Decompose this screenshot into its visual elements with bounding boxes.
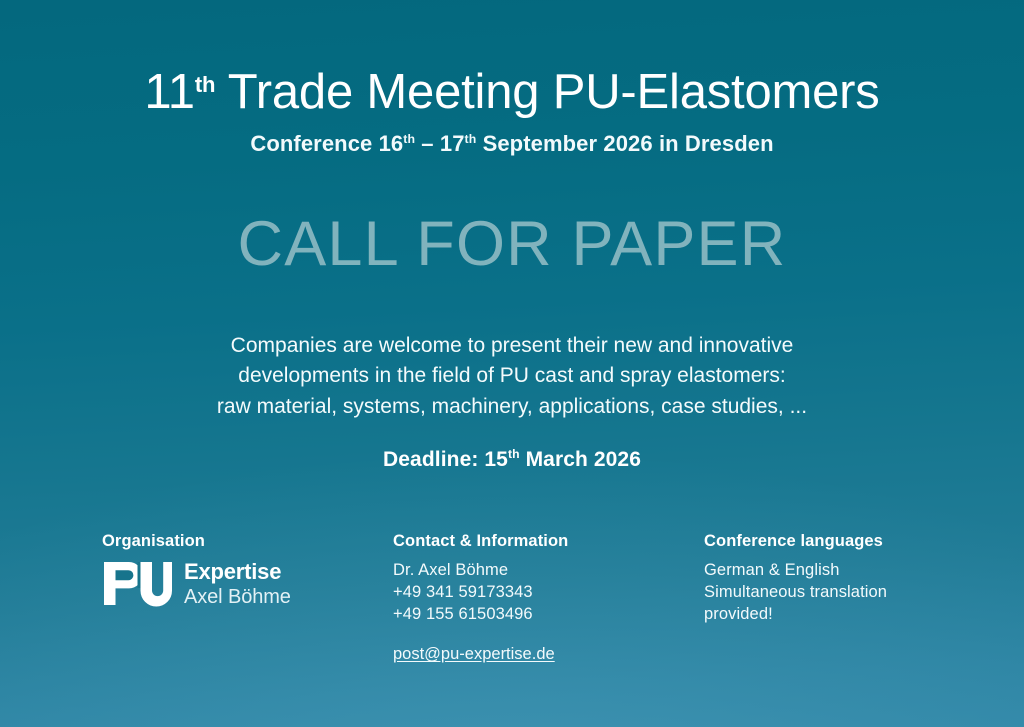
- title-number: 11: [144, 65, 194, 119]
- contact-heading: Contact & Information: [393, 532, 693, 551]
- pu-monogram-icon: [102, 560, 174, 607]
- logo-company-name: Expertise: [184, 561, 291, 583]
- languages-line-1: German & English: [704, 560, 1004, 582]
- subtitle-ordinal-b: th: [465, 132, 477, 146]
- title-text: Trade Meeting PU-Elastomers: [215, 65, 879, 119]
- contact-person-name: Dr. Axel Böhme: [393, 560, 693, 582]
- conference-poster: 11th Trade Meeting PU-Elastomers Confere…: [0, 0, 1024, 727]
- submission-deadline: Deadline: 15th March 2026: [0, 422, 1024, 472]
- contact-email-link[interactable]: post@pu-expertise.de: [393, 645, 555, 664]
- deadline-ordinal: th: [508, 447, 520, 461]
- subtitle-ordinal-a: th: [403, 132, 415, 146]
- subtitle-part-c: September 2026 in Dresden: [476, 131, 773, 156]
- conference-subtitle: Conference 16th – 17th September 2026 in…: [0, 119, 1024, 157]
- invitation-line-1: Companies are welcome to present their n…: [0, 331, 1024, 361]
- invitation-line-3: raw material, systems, machinery, applic…: [0, 392, 1024, 422]
- languages-line-3: provided!: [704, 604, 1004, 626]
- pu-expertise-logo: Expertise Axel Böhme: [102, 560, 382, 607]
- invitation-line-2: developments in the field of PU cast and…: [0, 361, 1024, 391]
- deadline-label: Deadline: 15: [383, 448, 508, 471]
- subtitle-part-a: Conference 16: [250, 131, 403, 156]
- logo-person-name: Axel Böhme: [184, 587, 291, 607]
- call-for-paper-heading: CALL FOR PAPER: [0, 157, 1024, 277]
- organisation-heading: Organisation: [102, 532, 382, 551]
- logo-wordmark: Expertise Axel Böhme: [184, 561, 291, 607]
- page-title: 11th Trade Meeting PU-Elastomers: [0, 0, 1024, 119]
- languages-column: Conference languages German & English Si…: [704, 532, 1004, 626]
- footer-columns: Organisation Expertise Axel Böhme: [0, 532, 1024, 722]
- contact-phone-primary: +49 341 59173343: [393, 582, 693, 604]
- languages-line-2: Simultaneous translation: [704, 582, 1004, 604]
- organisation-column: Organisation Expertise Axel Böhme: [102, 532, 382, 607]
- subtitle-part-b: – 17: [415, 131, 464, 156]
- title-ordinal-suffix: th: [195, 72, 215, 97]
- invitation-text: Companies are welcome to present their n…: [0, 277, 1024, 422]
- contact-column: Contact & Information Dr. Axel Böhme +49…: [393, 532, 693, 664]
- languages-heading: Conference languages: [704, 532, 1004, 551]
- contact-phone-mobile: +49 155 61503496: [393, 604, 693, 626]
- deadline-month-year: March 2026: [520, 448, 641, 471]
